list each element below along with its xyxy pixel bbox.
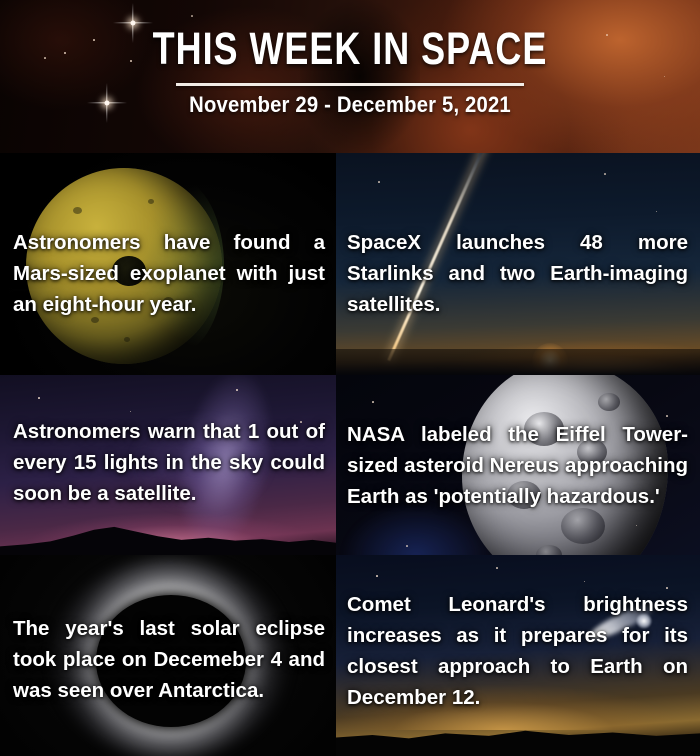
star-dot-icon <box>376 575 378 577</box>
news-cell-eclipse[interactable]: The year's last solar eclipse took place… <box>0 555 336 756</box>
news-caption: The year's last solar eclipse took place… <box>13 613 325 706</box>
date-range-label: November 29 - December 5, 2021 <box>28 90 672 120</box>
news-cell-satellites[interactable]: Astronomers warn that 1 out of every 15 … <box>0 375 336 555</box>
news-cell-exoplanet[interactable]: Astronomers have found a Mars-sized exop… <box>0 153 336 375</box>
star-dot-icon <box>64 52 66 54</box>
header-banner: THIS WEEK IN SPACE November 29 - Decembe… <box>0 0 700 153</box>
page-title: THIS WEEK IN SPACE <box>70 24 630 74</box>
star-dot-icon <box>191 15 193 17</box>
horizon-line <box>336 349 700 375</box>
news-cell-comet[interactable]: Comet Leonard's brightness increases as … <box>336 555 700 756</box>
news-caption: SpaceX launches 48 more Starlinks and tw… <box>347 227 688 320</box>
star-dot-icon <box>604 173 606 175</box>
star-dot-icon <box>38 397 40 399</box>
infographic-page: THIS WEEK IN SPACE November 29 - Decembe… <box>0 0 700 756</box>
star-dot-icon <box>372 401 374 403</box>
title-underline <box>176 83 524 86</box>
news-caption: Astronomers warn that 1 out of every 15 … <box>13 416 325 509</box>
star-dot-icon <box>406 545 408 547</box>
news-caption: Astronomers have found a Mars-sized exop… <box>13 227 325 320</box>
star-dot-icon <box>236 389 238 391</box>
star-dot-icon <box>496 567 498 569</box>
star-dot-icon <box>378 181 380 183</box>
star-dot-icon <box>666 415 668 417</box>
news-caption: NASA labeled the Eiffel Tower-sized aste… <box>347 419 688 512</box>
news-cell-spacex[interactable]: SpaceX launches 48 more Starlinks and tw… <box>336 153 700 375</box>
news-caption: Comet Leonard's brightness increases as … <box>347 589 688 713</box>
star-dot-icon <box>44 57 46 59</box>
